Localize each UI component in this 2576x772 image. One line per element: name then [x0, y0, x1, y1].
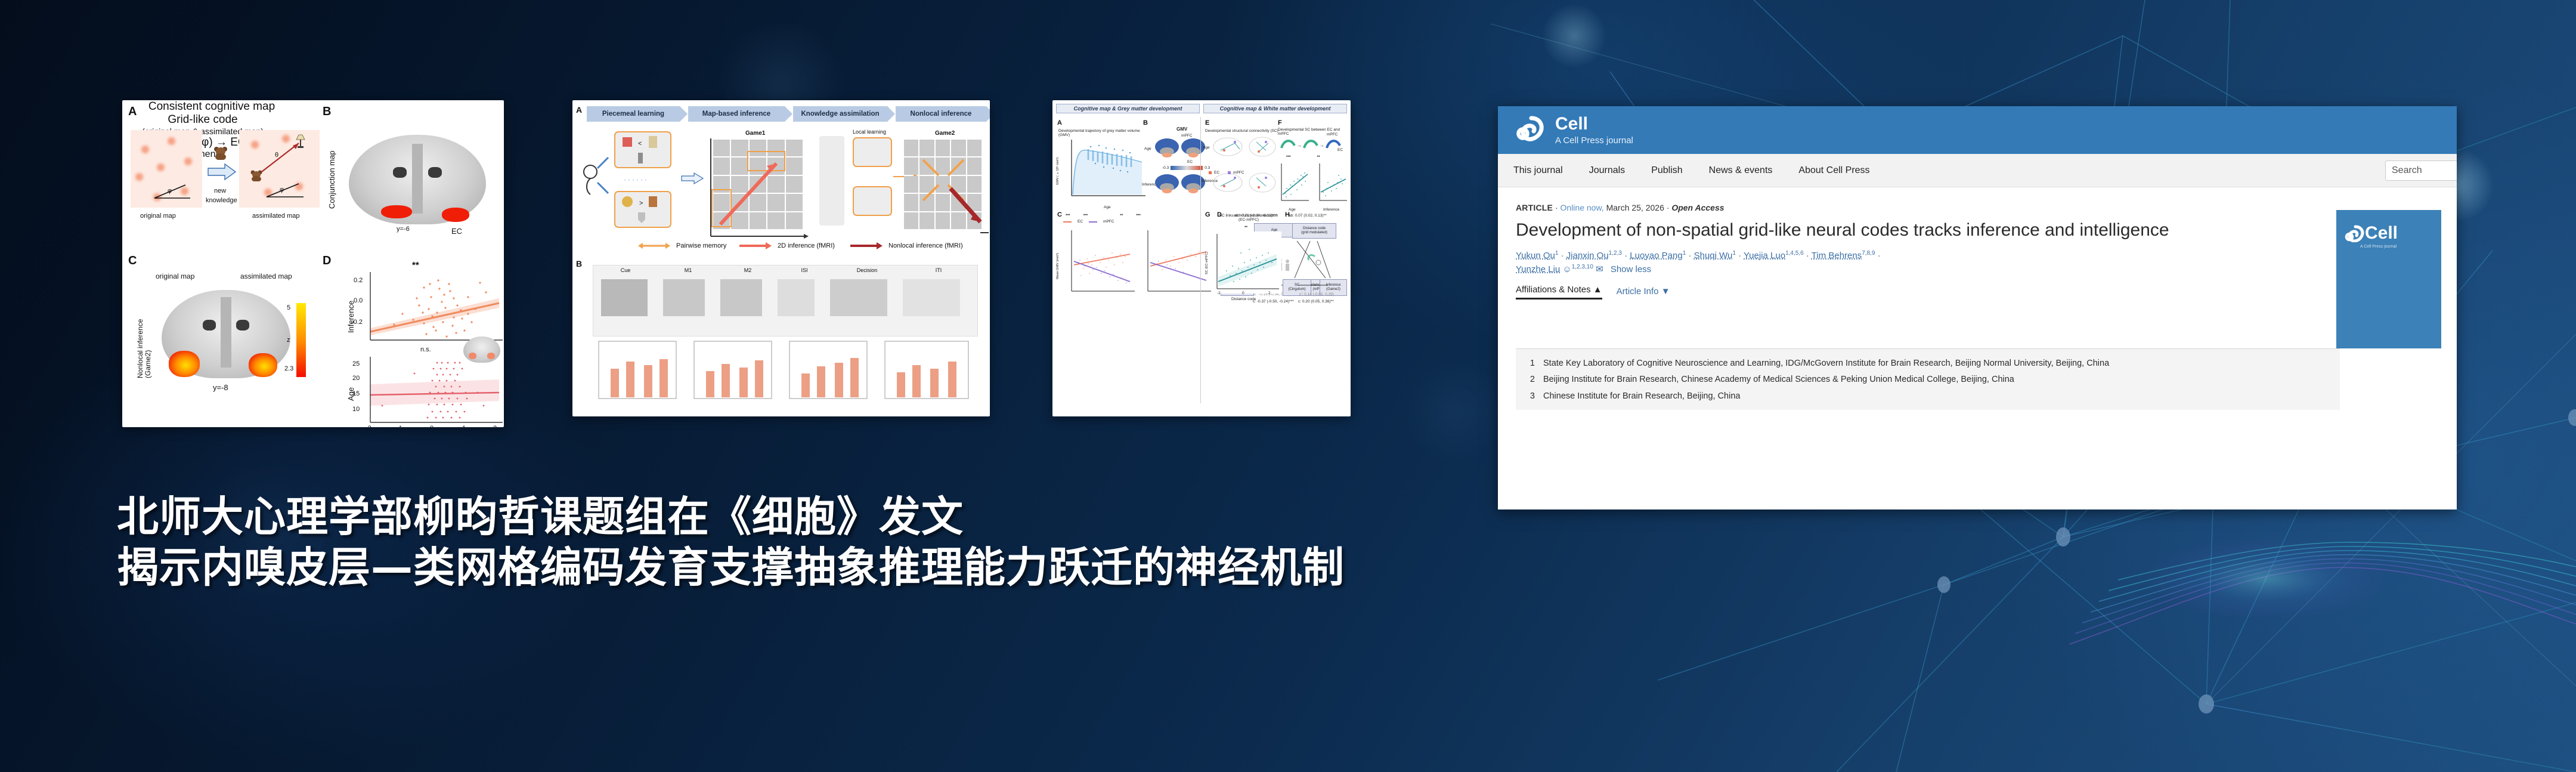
- cbar-max: 0.3: [1205, 166, 1210, 170]
- figure3-panel-B-letter: B: [1143, 119, 1148, 126]
- sc-inference-scatter: [1316, 161, 1348, 205]
- journal-cover-thumbnail[interactable]: Cell A Cell Press journal: [2336, 210, 2441, 348]
- inference-scatter-plot: [367, 271, 504, 342]
- brain-inset: [463, 336, 500, 363]
- figure1-D-bottom-ytick-2: 15: [352, 390, 360, 397]
- timeline-col: ITI: [903, 267, 974, 273]
- bear-icon: [213, 146, 228, 160]
- figure3-panel-F-label-mpfc: mPFC: [1327, 132, 1337, 137]
- author-sup: 1: [1732, 250, 1736, 257]
- legend-label: Pairwise memory: [676, 242, 726, 249]
- sig-mark: **: [1317, 155, 1320, 159]
- cbar-min: -0.3: [1162, 166, 1169, 170]
- affiliation-row: 3 Chinese Institute for Brain Research, …: [1527, 390, 2329, 402]
- figure3-panel-H-ab: ab: 0.07 (0.02, 0.13)**: [1289, 214, 1327, 218]
- author-sup: 1,2,3,10: [1572, 264, 1593, 270]
- figure3-panel-E-row-0: Age: [1203, 146, 1210, 150]
- figure3-panel-H-c: c: 0.20 (0.05, 0.36)**: [1298, 299, 1334, 304]
- figure3-panel-E-letter: E: [1205, 119, 1209, 126]
- author-sep: ·: [1738, 251, 1741, 261]
- figure3-panel-E-title: Developmental structural connectivity (S…: [1205, 129, 1283, 133]
- figure1-D-top-ytick-0: 0.2: [354, 277, 363, 284]
- new-knowledge-label-2: knowledge: [206, 197, 237, 204]
- sig-mark: ***: [1136, 214, 1141, 218]
- nav-publish[interactable]: Publish: [1651, 165, 1682, 176]
- new-knowledge-label-1: new: [214, 187, 226, 194]
- author-sup: 7,8,9: [1862, 250, 1875, 257]
- figure2-timeline-headers: Cue M1 M2 ISI Decision ITI: [593, 267, 978, 273]
- pair-comparison-bottom: >: [614, 191, 671, 228]
- author-sup: 1: [1555, 250, 1559, 257]
- figure3-panel-G-xtick-1: 0: [1242, 291, 1244, 295]
- ec-activation-left: [381, 205, 412, 218]
- figure3-panel-G-xtick-2: 2: [1268, 291, 1271, 295]
- figure3-panel-G-title: SC links with functional interaction (EC…: [1217, 214, 1280, 222]
- colorbar-top-tick: 5: [287, 304, 290, 311]
- figure3-divider: [1200, 117, 1201, 403]
- tab-article-info[interactable]: Article Info ▼: [1617, 286, 1670, 299]
- game1-inference-arrow: [707, 137, 809, 242]
- flow-step: Piecemeal learning: [587, 106, 680, 122]
- figure2-legend-2d: 2D inference (fMRI): [739, 242, 835, 249]
- article-meta: ARTICLE · Online now, March 25, 2026 · O…: [1516, 203, 2324, 212]
- new-items-column: [819, 136, 844, 226]
- flow-step: Nonlocal inference: [896, 106, 986, 122]
- open-access-badge: Open Access: [1671, 203, 1724, 212]
- cell-journal-screenshot[interactable]: Cell A Cell Press journal This journal J…: [1498, 106, 2457, 509]
- svg-text:→: →: [1297, 143, 1302, 148]
- figure3-panel-A-title: Developmental trajectory of grey matter …: [1058, 129, 1148, 137]
- figure1-panel-D-sig-top: **: [412, 260, 419, 270]
- local-learning-card-top: [853, 137, 892, 167]
- figure3-panel-H-cprime: c': 0.14 (-0.02, 0.29): [1299, 292, 1334, 297]
- meta-sep-2: ·: [1667, 203, 1670, 212]
- author-name[interactable]: Yukun Qu: [1516, 251, 1555, 261]
- meta-sep: ·: [1555, 203, 1558, 212]
- cell-brand-name: Cell: [1555, 115, 1633, 134]
- author-sep: ·: [1688, 251, 1691, 261]
- bear-icon: [250, 169, 263, 181]
- affiliation-row: 2 Beijing Institute for Brain Research, …: [1527, 373, 2329, 385]
- figure3-panel-A-ylabel: GMV ( ×10⁵ mm³): [1056, 143, 1060, 185]
- sig-mark: **: [1120, 214, 1123, 218]
- figure3-panel-C-letter: C: [1057, 211, 1062, 218]
- figure2-panel-B-letter: B: [576, 259, 582, 268]
- search-input[interactable]: Search: [2385, 160, 2457, 181]
- nav-about-cell-press[interactable]: About Cell Press: [1798, 165, 1869, 176]
- author-sup: 1,4,5,6: [1785, 250, 1804, 257]
- figure1-original-map-label: original map: [140, 212, 176, 220]
- ellipsis-dots: ······: [624, 175, 649, 184]
- gmv-trajectory-plot: [1063, 137, 1147, 203]
- figure2-legend-nonlocal: Nonlocal inference (fMRI): [850, 242, 963, 249]
- angle-phi-label-2: φ: [280, 186, 284, 193]
- figure1-D-top-ytick-2: -0.2: [351, 319, 363, 326]
- sig-mark: ***: [1286, 155, 1291, 159]
- figure3-panel-B-title: GMV: [1176, 126, 1187, 132]
- figure3-panel-G-xtick-0: -2: [1217, 291, 1221, 295]
- ec-activation-hot-right: [249, 353, 277, 377]
- author-name[interactable]: Yuejia Luo: [1744, 251, 1785, 261]
- age-scatter-plot: [367, 356, 504, 427]
- angle-theta-label: θ: [275, 152, 278, 159]
- sig-mark: ***: [1083, 214, 1088, 218]
- figure3-right-header: Cognitive map & White matter development: [1203, 104, 1347, 113]
- author-sep: ·: [1806, 251, 1809, 261]
- tab-label: Article Info: [1617, 286, 1659, 297]
- flow-step: Map-based inference: [688, 106, 785, 122]
- figure-2-task-design[interactable]: A Piecemeal learning Map-based inference…: [572, 100, 990, 416]
- show-less-toggle[interactable]: Show less: [1611, 264, 1651, 274]
- figure1-D-xtick-1: -1: [397, 425, 402, 427]
- figure3-panel-F-letter: F: [1278, 119, 1282, 126]
- sc-age-scatter: [1278, 161, 1310, 205]
- svg-text:<: <: [638, 140, 642, 147]
- figure1-D-bottom-ytick-3: 10: [352, 406, 360, 413]
- figure3-panel-G-letter: G: [1205, 211, 1210, 218]
- article-title: Development of non-spatial grid-like neu…: [1516, 220, 2324, 242]
- cell-infinity-logo-icon: [2343, 224, 2365, 242]
- ec-activation-right: [442, 208, 469, 222]
- legend-ec: EC: [1214, 171, 1219, 175]
- tab-affiliations-notes[interactable]: Affiliations & Notes ▲: [1516, 285, 1602, 299]
- figure3-panel-G-sig: **: [1244, 226, 1247, 230]
- figure1-panel-C-ylabel: Nonlocal inference (Game2): [137, 301, 152, 378]
- colorbar-bottom-tick: 2.3: [284, 365, 293, 372]
- article-type: ARTICLE: [1516, 203, 1553, 212]
- game2-nonlocal-arrow: [902, 137, 990, 239]
- figure1-panel-C-sub-left: original map: [156, 272, 194, 280]
- author-sep: ·: [1878, 251, 1881, 261]
- affiliation-number: 3: [1527, 390, 1535, 402]
- author-name[interactable]: Yunzhe Liu: [1516, 264, 1560, 274]
- affiliation-text: State Key Laboratory of Cognitive Neuros…: [1543, 357, 2109, 369]
- svg-text:>: >: [639, 200, 643, 207]
- legend-mpfc: mPFC: [1103, 220, 1114, 224]
- figure3-panel-G-xlabel: Distance code: [1231, 297, 1256, 301]
- affiliation-number: 2: [1527, 373, 1535, 385]
- figure2-panel-A-letter: A: [576, 105, 582, 115]
- author-name[interactable]: Shuqi Wu: [1694, 251, 1733, 261]
- sig-mark: ***: [1066, 214, 1070, 218]
- figure2-flow-steps: Piecemeal learning Map-based inference K…: [587, 106, 986, 122]
- legend-label: Nonlocal inference (fMRI): [888, 242, 963, 249]
- cover-title: Cell: [2365, 223, 2398, 243]
- pair-comparison-top: <: [614, 131, 671, 168]
- figure-1-graphical-abstract[interactable]: A Consistent cognitive map φ new knowled…: [122, 100, 504, 427]
- figure3-panel-E-legend: EC mPFC: [1209, 171, 1244, 175]
- double-arrow-icon: [638, 242, 670, 249]
- participant-icon: [581, 152, 611, 223]
- author-sup: 1: [1683, 250, 1686, 257]
- legend-label: 2D inference (fMRI): [778, 242, 835, 249]
- article-date: March 25, 2026: [1606, 203, 1664, 212]
- figure1-panel-C-slice: y=-8: [213, 383, 228, 392]
- figure-strip: A Consistent cognitive map φ new knowled…: [122, 100, 1351, 427]
- figure1-panel-B-ylabel: Conjunction map: [327, 137, 336, 209]
- glow-node: [1395, 358, 1515, 465]
- figure1-D-bottom-ytick-0: 25: [352, 360, 360, 368]
- figure1-D-xtick-2: 0: [430, 425, 434, 427]
- ec-activation-hot-left: [169, 351, 200, 377]
- figure1-D-xtick-3: 1: [462, 425, 466, 427]
- figure1-panel-B-region: EC: [451, 227, 462, 236]
- figure3-panel-F-sig: *** **: [1286, 155, 1320, 159]
- cell-brand-tagline: A Cell Press journal: [1555, 135, 1633, 146]
- figure1-assimilated-map-label: assimilated map: [252, 212, 299, 220]
- timeline-col: Decision: [831, 267, 903, 273]
- person-icon: ☺: [1562, 264, 1571, 274]
- figure1-panel-B-title: Grid-like code: [122, 113, 283, 126]
- structural-connectivity-glassbrain: [1211, 134, 1280, 205]
- author-name[interactable]: Tim Behrens: [1812, 251, 1862, 261]
- affiliation-row: 1 State Key Laboratory of Cognitive Neur…: [1527, 357, 2329, 369]
- figure3-panel-B-label-ec: EC: [1187, 160, 1193, 164]
- figure2-local-learning-label: Local learning: [853, 129, 886, 135]
- figure2-game1-label: Game1: [745, 130, 765, 137]
- lamp-icon: [294, 134, 307, 149]
- new-knowledge-arrow-icon: [207, 162, 238, 186]
- nav-this-journal[interactable]: This journal: [1513, 165, 1563, 176]
- figure3-panel-F-label-ec: EC: [1337, 148, 1343, 152]
- headline-line-1: 北师大心理学部柳昀哲课题组在《细胞》发文: [117, 492, 1345, 542]
- figure2-game2-label: Game2: [935, 130, 955, 137]
- tract-progression-icons: → →: [1279, 135, 1346, 155]
- gmv-scatter-left: [1063, 228, 1137, 298]
- affiliation-text: Beijing Institute for Brain Research, Ch…: [1543, 373, 2014, 385]
- figure1-panel-A-letter: A: [128, 105, 137, 119]
- affiliation-number: 1: [1527, 357, 1535, 369]
- figure3-panel-B-label-mpfc: mPFC: [1181, 134, 1192, 138]
- figure-3-development[interactable]: Cognitive map & Grey matter development …: [1052, 100, 1351, 416]
- figure3-panel-B-row-0: Age: [1144, 147, 1151, 151]
- article-online-label: Online now,: [1561, 203, 1604, 212]
- figure3-panel-C-legend: EC mPFC: [1063, 220, 1114, 224]
- gmv-scatter-right: [1140, 228, 1213, 298]
- figure3-panel-C-sig: *** *** ** ***: [1066, 214, 1141, 218]
- chevron-up-icon: ▲: [1593, 285, 1602, 295]
- cover-tagline: A Cell Press journal: [2360, 245, 2397, 249]
- figure2-legend-pairwise: Pairwise memory: [638, 242, 726, 249]
- affiliations-panel: 1 State Key Laboratory of Cognitive Neur…: [1516, 348, 2340, 410]
- angle-phi-label: φ: [168, 187, 172, 194]
- timeline-col: Cue: [593, 267, 658, 273]
- tab-label: Affiliations & Notes: [1516, 285, 1591, 295]
- figure1-D-bottom-ytick-1: 20: [352, 375, 360, 382]
- headline-line-2: 揭示内嗅皮层—类网格编码发育支撑抽象推理能力跃迁的神经机制: [117, 542, 1345, 593]
- timeline-col: M1: [658, 267, 718, 273]
- affiliation-text: Chinese Institute for Brain Research, Be…: [1543, 390, 1740, 402]
- figure1-panel-D-sig-bottom: n.s.: [420, 346, 431, 353]
- flow-step: Knowledge assimilation: [793, 106, 887, 122]
- envelope-icon[interactable]: ✉: [1596, 264, 1603, 274]
- figure1-panel-C-letter: C: [128, 254, 137, 268]
- author-sep: ·: [1561, 251, 1564, 261]
- arrow-icon: [739, 242, 772, 249]
- figure1-D-xtick-0: -2: [366, 425, 371, 427]
- cell-nav-bar[interactable]: This journal Journals Publish News & eve…: [1498, 154, 2457, 187]
- figure3-panel-A-xlabel: Age: [1104, 205, 1111, 209]
- figure3-panel-D-c: c: -0.37 (-0.50, -0.24)***: [1253, 299, 1294, 304]
- original-map-box: φ: [131, 130, 202, 208]
- timeline-col: ISI: [778, 267, 831, 273]
- figure1-panel-B-letter: B: [323, 105, 331, 119]
- figure3-panel-A-letter: A: [1057, 119, 1062, 126]
- headline: 北师大心理学部柳昀哲课题组在《细胞》发文 揭示内嗅皮层—类网格编码发育支撑抽象推…: [117, 492, 1345, 594]
- figure3-panel-F-xlabel-right: Inference: [1323, 208, 1339, 212]
- chevron-down-icon: ▼: [1661, 286, 1670, 297]
- figure1-D-xtick-4: 2: [493, 425, 497, 427]
- assimilated-map-box: θ φ: [239, 130, 320, 208]
- cell-infinity-logo-icon: [1513, 115, 1544, 146]
- author-sep: ·: [1624, 251, 1627, 261]
- figure2-trial-frames: [601, 279, 960, 316]
- legend-ec: EC: [1078, 220, 1083, 224]
- legend-mpfc: mPFC: [1233, 171, 1244, 175]
- author-sup: 1,2,3: [1609, 250, 1622, 257]
- author-list[interactable]: Yukun Qu1 · Jianxin Ou1,2,3 · Luoyao Pan…: [1516, 249, 2324, 277]
- cell-article-body: ARTICLE · Online now, March 25, 2026 · O…: [1498, 187, 2457, 348]
- figure1-panel-C-sub-right: assimilated map: [240, 272, 292, 280]
- local-learning-card-bottom: [853, 186, 892, 216]
- figure3-panel-G-ylabel: SC (EC-mPFC): [1205, 239, 1209, 274]
- figure3-left-header: Cognitive map & Grey matter development: [1056, 104, 1200, 113]
- author-name[interactable]: Jianxin Ou: [1566, 251, 1609, 261]
- nav-journals[interactable]: Journals: [1589, 165, 1625, 176]
- figure3-panel-B-colorbar: -0.3 0.3: [1162, 166, 1210, 170]
- arrow-right-icon: [681, 172, 705, 185]
- figure3-panel-H-mediation-arrows: [1283, 236, 1348, 296]
- figure3-panel-C-ylabel: Mean GMV (mm³): [1056, 237, 1060, 279]
- z-colorbar: [296, 303, 306, 377]
- figure1-panel-A-title: Consistent cognitive map: [122, 100, 301, 113]
- figure2-lower-plots: [593, 338, 978, 415]
- figure1-panel-D-letter: D: [323, 254, 331, 268]
- sc-distance-scatter: [1212, 231, 1281, 294]
- svg-text:→: →: [1320, 143, 1324, 148]
- colorbar-mid-tick: z: [287, 336, 290, 344]
- timeline-col: M2: [718, 267, 778, 273]
- author-name[interactable]: Luoyao Pang: [1630, 251, 1682, 261]
- arrow-icon: [850, 242, 883, 249]
- nav-news-events[interactable]: News & events: [1709, 165, 1773, 176]
- figure1-D-top-ytick-1: 0.0: [354, 297, 363, 304]
- cell-header: Cell A Cell Press journal: [1498, 106, 2457, 154]
- figure1-panel-B-slice: y=-6: [397, 226, 410, 233]
- article-tabs[interactable]: Affiliations & Notes ▲ Article Info ▼: [1516, 285, 2324, 299]
